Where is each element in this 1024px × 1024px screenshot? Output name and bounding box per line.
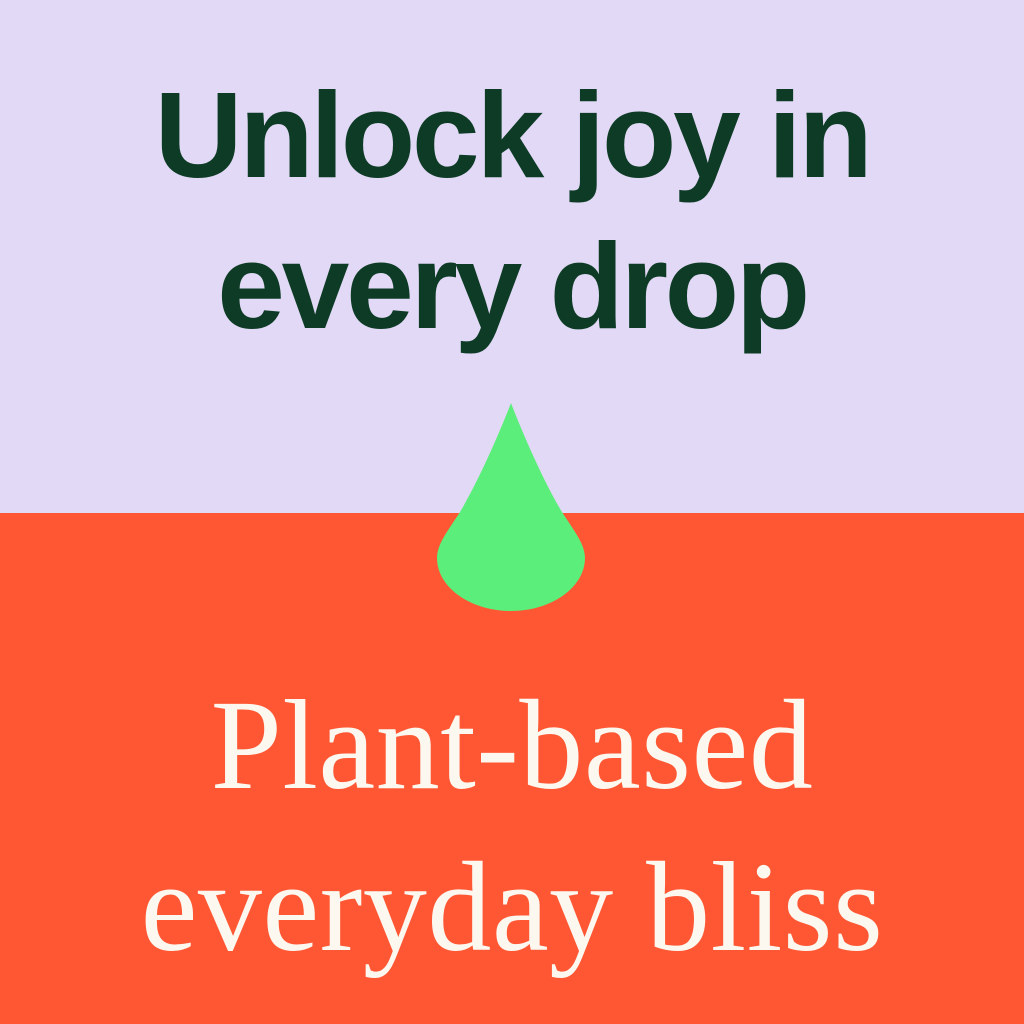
subline-line-1: Plant-based [0,664,1024,826]
droplet-shape [437,403,585,611]
subline-line-2: everyday bliss [0,826,1024,988]
headline-line-2: every drop [0,211,1024,362]
headline: Unlock joy in every drop [0,60,1024,362]
promo-poster: Unlock joy in every drop Plant-based eve… [0,0,1024,1024]
water-droplet-icon [437,403,585,611]
headline-line-1: Unlock joy in [0,60,1024,211]
subline: Plant-based everyday bliss [0,664,1024,988]
